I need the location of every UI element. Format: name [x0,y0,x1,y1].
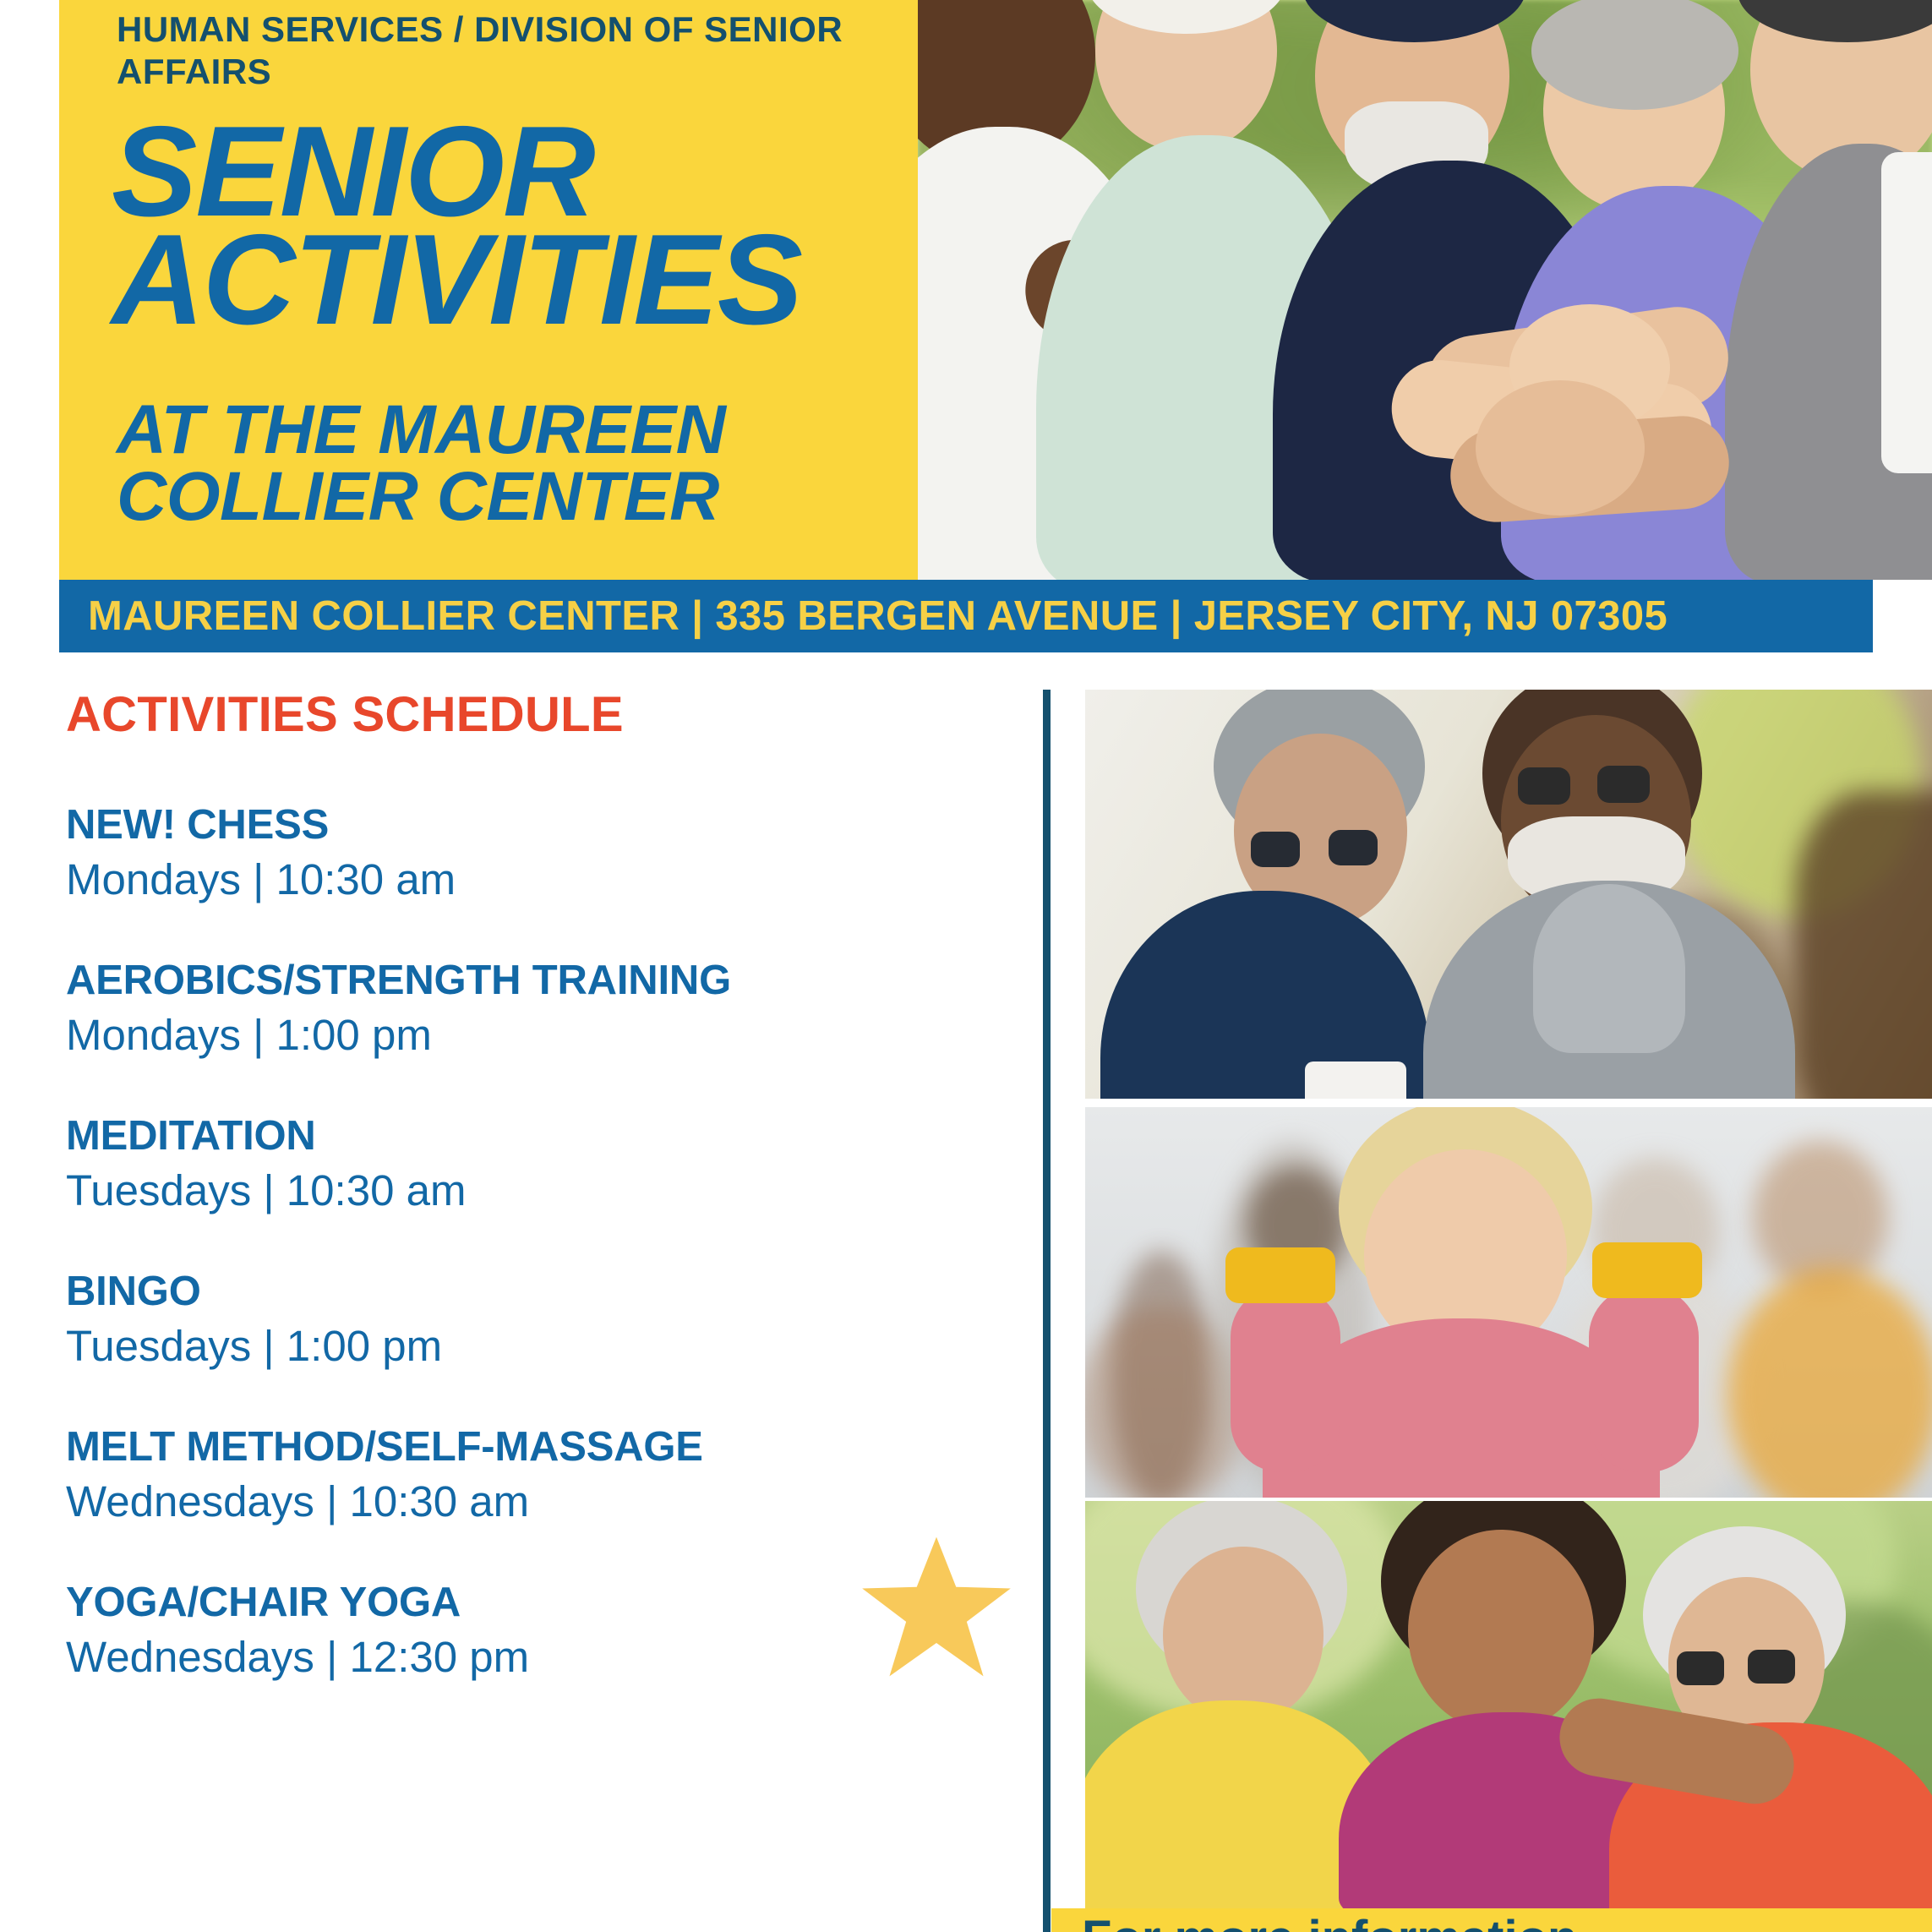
activity-schedule: Mondays | 10:30 am [66,854,1004,905]
bottom-banner: For more information [1051,1908,1932,1932]
activity-schedule: Tuesdays | 1:00 pm [66,1320,1004,1372]
photo-friends [1085,1501,1932,1908]
activity-name: BINGO [66,1269,1004,1315]
poster-subtitle: AT THE MAUREEN COLLIER CENTER [117,397,970,530]
photo-weights [1085,1107,1932,1498]
activity-item: BINGO Tuesdays | 1:00 pm [66,1269,1004,1372]
header-yellow-panel: HUMAN SERVICES / DIVISION OF SENIOR AFFA… [59,0,918,580]
activity-schedule: Wednesdays | 10:30 am [66,1476,1004,1527]
activity-name: MEDITATION [66,1113,1004,1160]
poster-header: HUMAN SERVICES / DIVISION OF SENIOR AFFA… [0,0,1932,580]
address-bar: MAUREEN COLLIER CENTER | 335 BERGEN AVEN… [59,580,1873,652]
poster-subtitle-line-1: AT THE MAUREEN [117,397,970,464]
photo-chess [1085,690,1932,1099]
activity-item: MELT METHOD/SELF-MASSAGE Wednesdays | 10… [66,1424,1004,1527]
activity-name: AEROBICS/STRENGTH TRAINING [66,958,1004,1004]
activity-schedule: Tuesdays | 10:30 am [66,1165,1004,1216]
activities-schedule-heading: ACTIVITIES SCHEDULE [66,686,1004,743]
activity-item: NEW! CHESS Mondays | 10:30 am [66,802,1004,905]
star-icon [860,1534,1012,1679]
header-eyebrow: HUMAN SERVICES / DIVISION OF SENIOR AFFA… [117,8,877,92]
poster-subtitle-line-2: COLLIER CENTER [117,464,970,531]
poster-title-line-2: ACTIVITIES [112,226,965,335]
address-text: MAUREEN COLLIER CENTER | 335 BERGEN AVEN… [59,592,1667,640]
activity-schedule: Mondays | 1:00 pm [66,1009,1004,1061]
vertical-divider [1043,690,1051,1932]
activity-name: NEW! CHESS [66,802,1004,849]
bottom-banner-text: For more information [1082,1910,1577,1932]
hero-photo-group-hands [918,0,1932,580]
activity-item: AEROBICS/STRENGTH TRAINING Mondays | 1:0… [66,958,1004,1061]
activity-item: MEDITATION Tuesdays | 10:30 am [66,1113,1004,1216]
poster-title: SENIOR ACTIVITIES [112,118,965,334]
activity-name: MELT METHOD/SELF-MASSAGE [66,1424,1004,1471]
